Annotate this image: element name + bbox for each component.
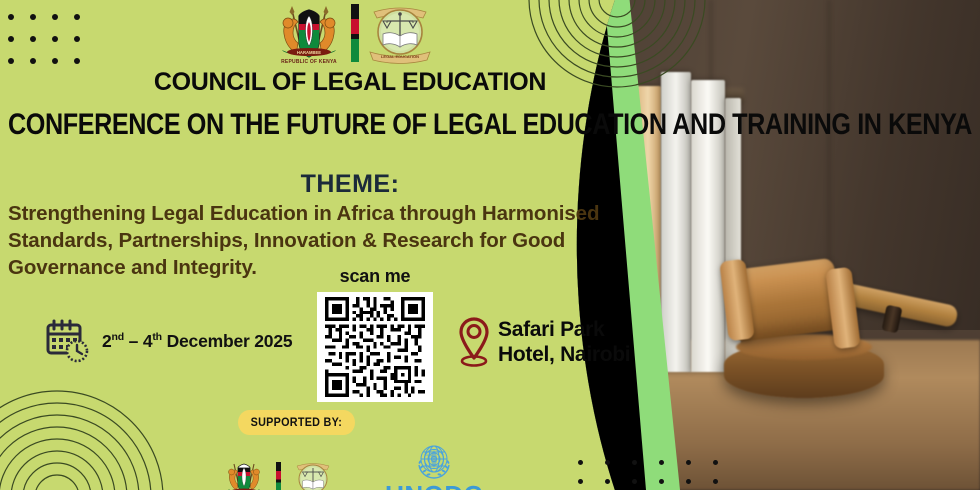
dot bbox=[8, 14, 14, 20]
sponsor-logo-row: REPUBLIC OF KENYA bbox=[222, 440, 503, 490]
decor-dots-top-left bbox=[8, 14, 80, 64]
date-day-start-suffix: nd bbox=[112, 331, 124, 343]
dot bbox=[30, 14, 36, 20]
svg-text:LEGAL EDUCATION: LEGAL EDUCATION bbox=[381, 54, 419, 59]
date-dash: – bbox=[124, 331, 143, 351]
dot bbox=[74, 36, 80, 42]
dot bbox=[686, 479, 691, 484]
venue-line-1: Safari Park bbox=[498, 317, 630, 342]
decor-dots-bottom-right bbox=[578, 460, 718, 484]
unodc-acronym: UNODC bbox=[365, 482, 503, 490]
venue-line-2: Hotel, Nairobi bbox=[498, 342, 630, 367]
conference-poster: HARAMBEE REPUBLIC OF KENYA bbox=[0, 0, 980, 490]
decor-arcs-bottom-left bbox=[0, 382, 172, 490]
sponsor-kenya-flag-divider-icon bbox=[276, 462, 281, 490]
unodc-logo: UNODC United Nations Office on Drugs and… bbox=[365, 440, 503, 490]
event-date-row: 2nd – 4th December 2025 bbox=[44, 318, 292, 364]
dot bbox=[52, 36, 58, 42]
supported-by-badge: SUPPORTED BY: bbox=[238, 410, 355, 435]
gavel bbox=[688, 222, 958, 412]
republic-of-kenya-coat-of-arms-icon: HARAMBEE REPUBLIC OF KENYA bbox=[272, 2, 346, 64]
theme-label: THEME: bbox=[0, 170, 700, 199]
sponsor-republic-of-kenya-coat-of-arms-icon: REPUBLIC OF KENYA bbox=[222, 459, 266, 490]
dot bbox=[632, 479, 637, 484]
dot bbox=[632, 460, 637, 465]
dot bbox=[578, 479, 583, 484]
header-logo-row: HARAMBEE REPUBLIC OF KENYA bbox=[272, 2, 436, 64]
dot bbox=[74, 58, 80, 64]
dot bbox=[659, 479, 664, 484]
council-of-legal-education-seal-icon: LEGAL EDUCATION bbox=[364, 2, 436, 64]
dot bbox=[713, 460, 718, 465]
calendar-clock-icon bbox=[44, 318, 92, 364]
sponsor-council-of-legal-education-seal-icon bbox=[291, 459, 335, 490]
scan-me-label: scan me bbox=[317, 266, 433, 287]
dot bbox=[52, 14, 58, 20]
dot bbox=[74, 14, 80, 20]
dot bbox=[52, 58, 58, 64]
location-pin-icon bbox=[458, 315, 490, 369]
dot bbox=[8, 58, 14, 64]
conference-title: CONFERENCE ON THE FUTURE OF LEGAL EDUCAT… bbox=[8, 108, 588, 142]
united-nations-emblem-icon bbox=[411, 440, 457, 482]
dot bbox=[578, 460, 583, 465]
date-month-year: December 2025 bbox=[162, 331, 292, 351]
coat-of-arms-caption: REPUBLIC OF KENYA bbox=[272, 59, 346, 65]
date-day-end-suffix: th bbox=[152, 331, 162, 343]
dot bbox=[30, 36, 36, 42]
organization-name: COUNCIL OF LEGAL EDUCATION bbox=[0, 68, 700, 97]
event-date-text: 2nd – 4th December 2025 bbox=[102, 331, 292, 352]
dot bbox=[713, 479, 718, 484]
dot bbox=[30, 58, 36, 64]
qr-code-block[interactable]: scan me bbox=[317, 266, 433, 402]
kenya-flag-divider-icon bbox=[351, 4, 359, 62]
dot bbox=[605, 460, 610, 465]
date-day-end: 4 bbox=[143, 331, 153, 351]
venue-row: Safari Park Hotel, Nairobi bbox=[458, 315, 630, 369]
date-day-start: 2 bbox=[102, 331, 112, 351]
dot bbox=[605, 479, 610, 484]
dot bbox=[8, 36, 14, 42]
dot bbox=[659, 460, 664, 465]
dot bbox=[686, 460, 691, 465]
svg-text:HARAMBEE: HARAMBEE bbox=[297, 50, 321, 55]
qr-code-image[interactable] bbox=[317, 292, 433, 402]
venue-name: Safari Park Hotel, Nairobi bbox=[498, 317, 630, 367]
